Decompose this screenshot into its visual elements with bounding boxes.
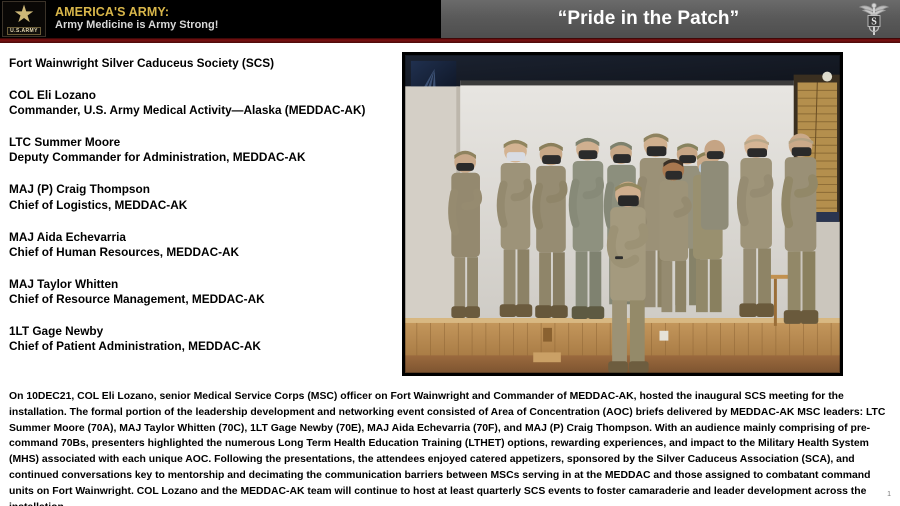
roster-entry: COL Eli Lozano Commander, U.S. Army Medi… <box>9 88 394 118</box>
header-red-rule <box>0 38 900 43</box>
body-paragraph: On 10DEC21, COL Eli Lozano, senior Medic… <box>9 389 891 506</box>
roster-entry: MAJ Aida Echevarria Chief of Human Resou… <box>9 230 394 260</box>
roster-entry: MAJ Taylor Whitten Chief of Resource Man… <box>9 277 394 307</box>
star-icon: ★ <box>13 3 35 26</box>
roster-entry-name: MAJ (P) Craig Thompson <box>9 182 394 197</box>
svg-text:S: S <box>871 17 877 28</box>
roster-entry-name: MAJ Aida Echevarria <box>9 230 394 245</box>
page-number: 1 <box>887 491 891 498</box>
page-title: “Pride in the Patch” <box>558 8 783 30</box>
roster-entry-name: MAJ Taylor Whitten <box>9 277 394 292</box>
brand-text-block: AMERICA'S ARMY: Army Medicine is Army St… <box>55 6 218 32</box>
roster-entry-role: Chief of Logistics, MEDDAC-AK <box>9 198 394 213</box>
roster-entry-name: COL Eli Lozano <box>9 88 394 103</box>
brand-tagline: Army Medicine is Army Strong! <box>55 20 218 32</box>
caduceus-icon: S <box>854 1 894 37</box>
header-banner: ★ U.S.ARMY AMERICA'S ARMY: Army Medicine… <box>0 0 900 38</box>
header-title-panel: “Pride in the Patch” <box>441 0 900 38</box>
slide-canvas: ★ U.S.ARMY AMERICA'S ARMY: Army Medicine… <box>0 0 900 506</box>
roster-entry: 1LT Gage Newby Chief of Patient Administ… <box>9 324 394 354</box>
roster-entry-role: Commander, U.S. Army Medical Activity—Al… <box>9 103 394 118</box>
roster-heading: Fort Wainwright Silver Caduceus Society … <box>9 56 394 71</box>
header-left-brand-block: ★ U.S.ARMY AMERICA'S ARMY: Army Medicine… <box>0 0 441 38</box>
roster-list: Fort Wainwright Silver Caduceus Society … <box>9 56 394 371</box>
roster-entry-role: Chief of Resource Management, MEDDAC-AK <box>9 292 394 307</box>
brand-headline: AMERICA'S ARMY: <box>55 6 218 19</box>
roster-entry-name: 1LT Gage Newby <box>9 324 394 339</box>
roster-entry-role: Deputy Commander for Administration, MED… <box>9 150 394 165</box>
roster-entry-name: LTC Summer Moore <box>9 135 394 150</box>
roster-entry: MAJ (P) Craig Thompson Chief of Logistic… <box>9 182 394 212</box>
roster-entry: LTC Summer Moore Deputy Commander for Ad… <box>9 135 394 165</box>
us-army-wordmark: U.S.ARMY <box>7 27 41 35</box>
scs-group-photo <box>402 52 843 376</box>
roster-entry-role: Chief of Human Resources, MEDDAC-AK <box>9 245 394 260</box>
us-army-star-logo: ★ U.S.ARMY <box>2 1 46 37</box>
roster-entry-role: Chief of Patient Administration, MEDDAC-… <box>9 339 394 354</box>
